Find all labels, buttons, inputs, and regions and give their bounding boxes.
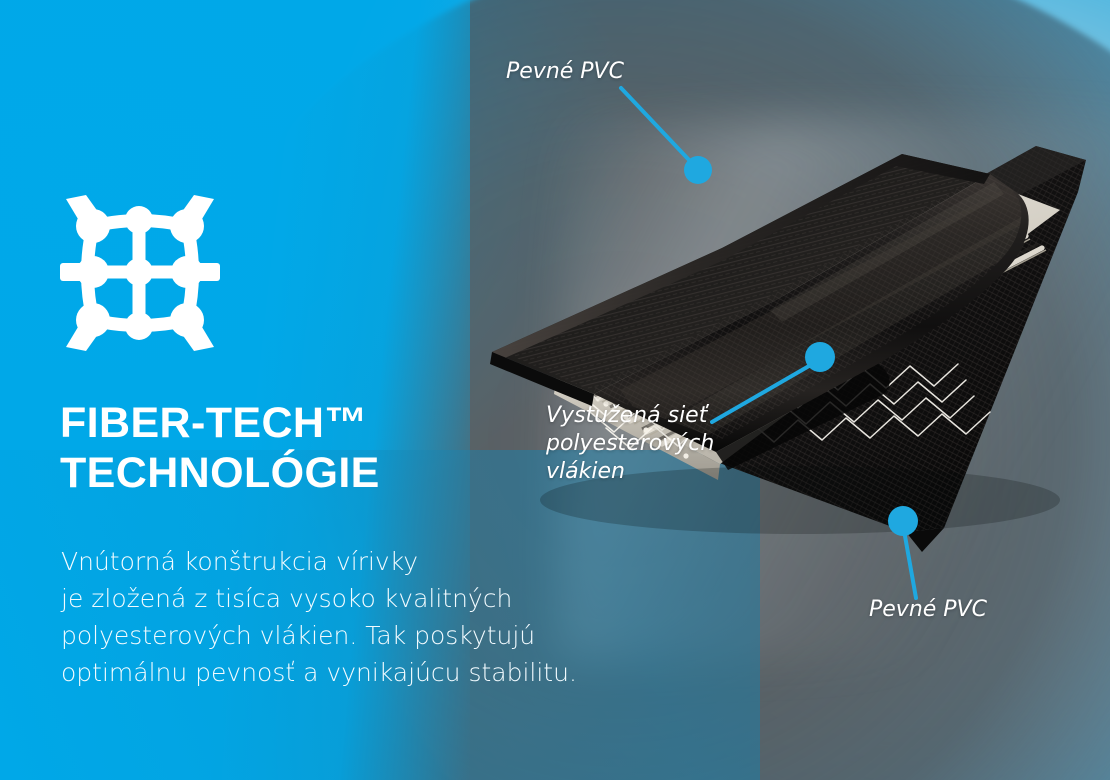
infographic-canvas: FIBER-TECH™ TECHNOLÓGIE Vnútorná konštru… — [0, 0, 1110, 780]
callout-mid-line-3: vlákien — [546, 458, 714, 486]
callout-label-fiber-mesh: Vystužená sieť polyesterových vlákien — [546, 402, 714, 486]
page-title: FIBER-TECH™ TECHNOLÓGIE — [60, 398, 530, 498]
callout-mid-line-1: Vystužená sieť — [546, 402, 714, 430]
callout-label-top-pvc: Pevné PVC — [506, 58, 624, 86]
body-line-2: je zložená z tisíca vysoko kvalitných — [61, 580, 651, 617]
body-line-4: optimálnu pevnosť a vynikajúcu stabilitu… — [61, 654, 651, 691]
callout-mid-line-2: polyesterových — [546, 430, 714, 458]
product-illustration — [470, 60, 1110, 620]
callout-top-line-1: Pevné PVC — [506, 58, 624, 86]
callout-label-bottom-pvc: Pevné PVC — [869, 596, 987, 624]
title-line-1: FIBER-TECH™ — [60, 398, 530, 448]
callout-bot-line-1: Pevné PVC — [869, 596, 987, 624]
fiber-mesh-icon — [60, 193, 220, 353]
body-line-3: polyesterových vlákien. Tak poskytujú — [61, 617, 651, 654]
title-line-2: TECHNOLÓGIE — [60, 448, 530, 498]
body-description: Vnútorná konštrukcia vírivky je zložená … — [61, 543, 651, 691]
body-line-1: Vnútorná konštrukcia vírivky — [61, 543, 651, 580]
